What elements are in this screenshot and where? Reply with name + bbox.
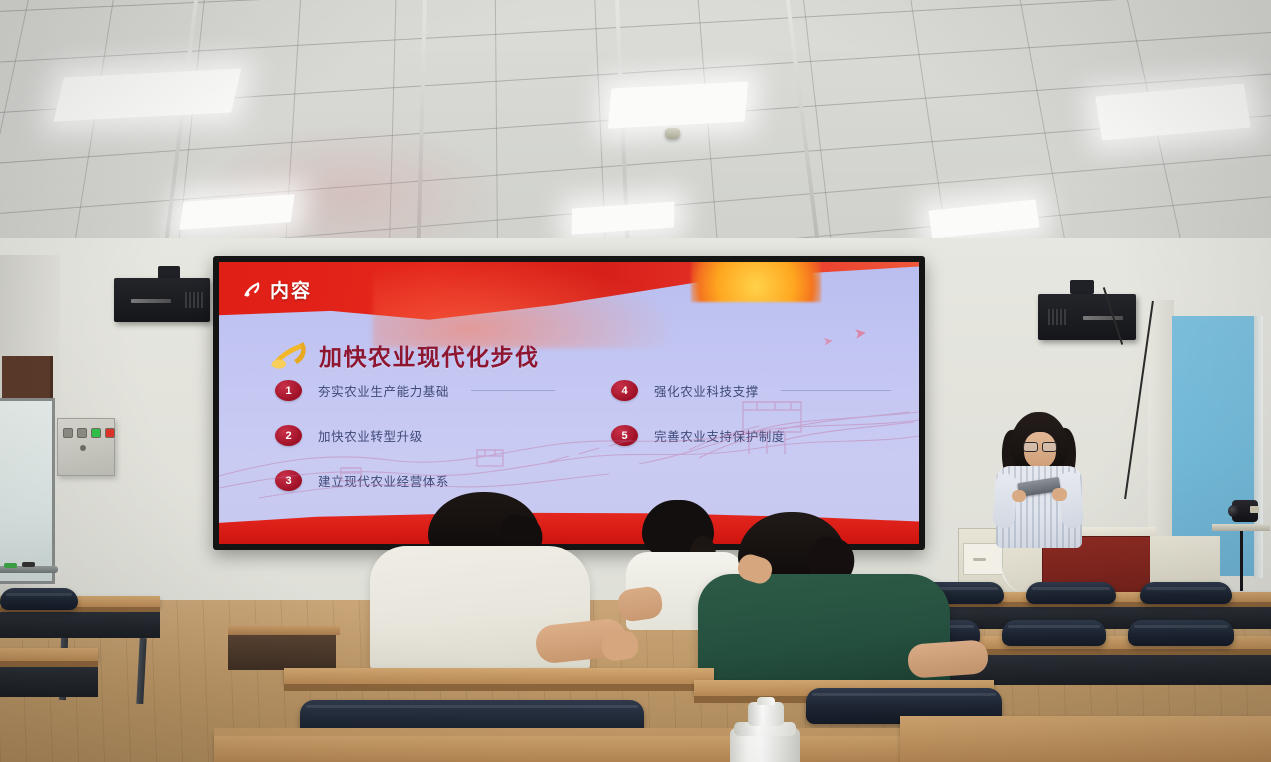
podium-step-top	[228, 626, 340, 635]
control-button-gray[interactable]	[77, 428, 87, 438]
slide-header-label: 内容	[270, 276, 312, 303]
student-desk	[284, 668, 714, 684]
dove-icon: ➤	[853, 323, 868, 343]
presenter-hand-right	[1052, 488, 1067, 501]
desk-edge	[214, 728, 914, 736]
student-chair[interactable]	[0, 588, 78, 610]
desk-modesty-panel	[0, 612, 160, 638]
slide-header: 内容	[241, 276, 312, 303]
student-chair[interactable]	[1128, 620, 1234, 646]
window-frame-edge	[1254, 316, 1263, 578]
slide-title-row: 加快农业现代化步伐	[267, 338, 540, 372]
student-arm	[907, 639, 989, 678]
control-indicator-green[interactable]	[91, 428, 101, 438]
camera-label	[1250, 506, 1259, 513]
wall-speaker-left	[114, 278, 210, 322]
speaker-grille	[185, 292, 203, 308]
student-desk	[214, 732, 914, 762]
desk-modesty-panel	[0, 667, 98, 697]
whiteboard	[0, 398, 55, 584]
control-button-gray[interactable]	[63, 428, 73, 438]
speaker-grille	[1048, 309, 1066, 325]
student-chair[interactable]	[1002, 620, 1106, 646]
slide-title: 加快农业现代化步伐	[319, 338, 540, 372]
classroom-scene: ➤ ➤ 内容	[0, 0, 1271, 762]
student-hand	[600, 630, 640, 663]
presenter-hand-left	[1012, 490, 1026, 502]
student-chair[interactable]	[1026, 582, 1116, 604]
desk-edge	[284, 684, 714, 691]
speaker-badge	[1083, 316, 1123, 320]
water-bottle-cap[interactable]	[748, 702, 784, 726]
control-panel-buttons[interactable]	[63, 428, 115, 438]
student-shirt	[698, 574, 950, 692]
student-chair[interactable]	[1140, 582, 1232, 604]
smoke-detector-icon	[665, 128, 680, 139]
camera-stand	[1240, 531, 1243, 591]
marker-green-icon	[4, 563, 17, 568]
speaker-mount-right	[1070, 280, 1094, 294]
glasses-icon	[1023, 442, 1057, 450]
student-desk	[900, 716, 1271, 762]
wall-control-panel[interactable]	[57, 418, 115, 476]
wall-speaker-right	[1038, 294, 1136, 340]
control-indicator-red[interactable]	[105, 428, 115, 438]
dove-icon: ➤	[822, 333, 834, 348]
speaker-badge	[131, 299, 171, 303]
party-emblem-icon	[241, 280, 263, 299]
control-panel-knob[interactable]	[80, 445, 86, 451]
camera-lens-icon	[1228, 505, 1239, 517]
sun-glow-icon	[691, 262, 821, 302]
ceiling	[0, 0, 1271, 262]
student-desk	[0, 648, 98, 661]
camera-shelf	[1212, 524, 1270, 531]
slide-banner-sweep	[373, 262, 695, 348]
ceiling-light-panel	[608, 81, 748, 128]
podium-step	[228, 632, 336, 670]
marker-dark-icon	[22, 562, 35, 567]
party-emblem-gold-icon	[267, 340, 311, 370]
